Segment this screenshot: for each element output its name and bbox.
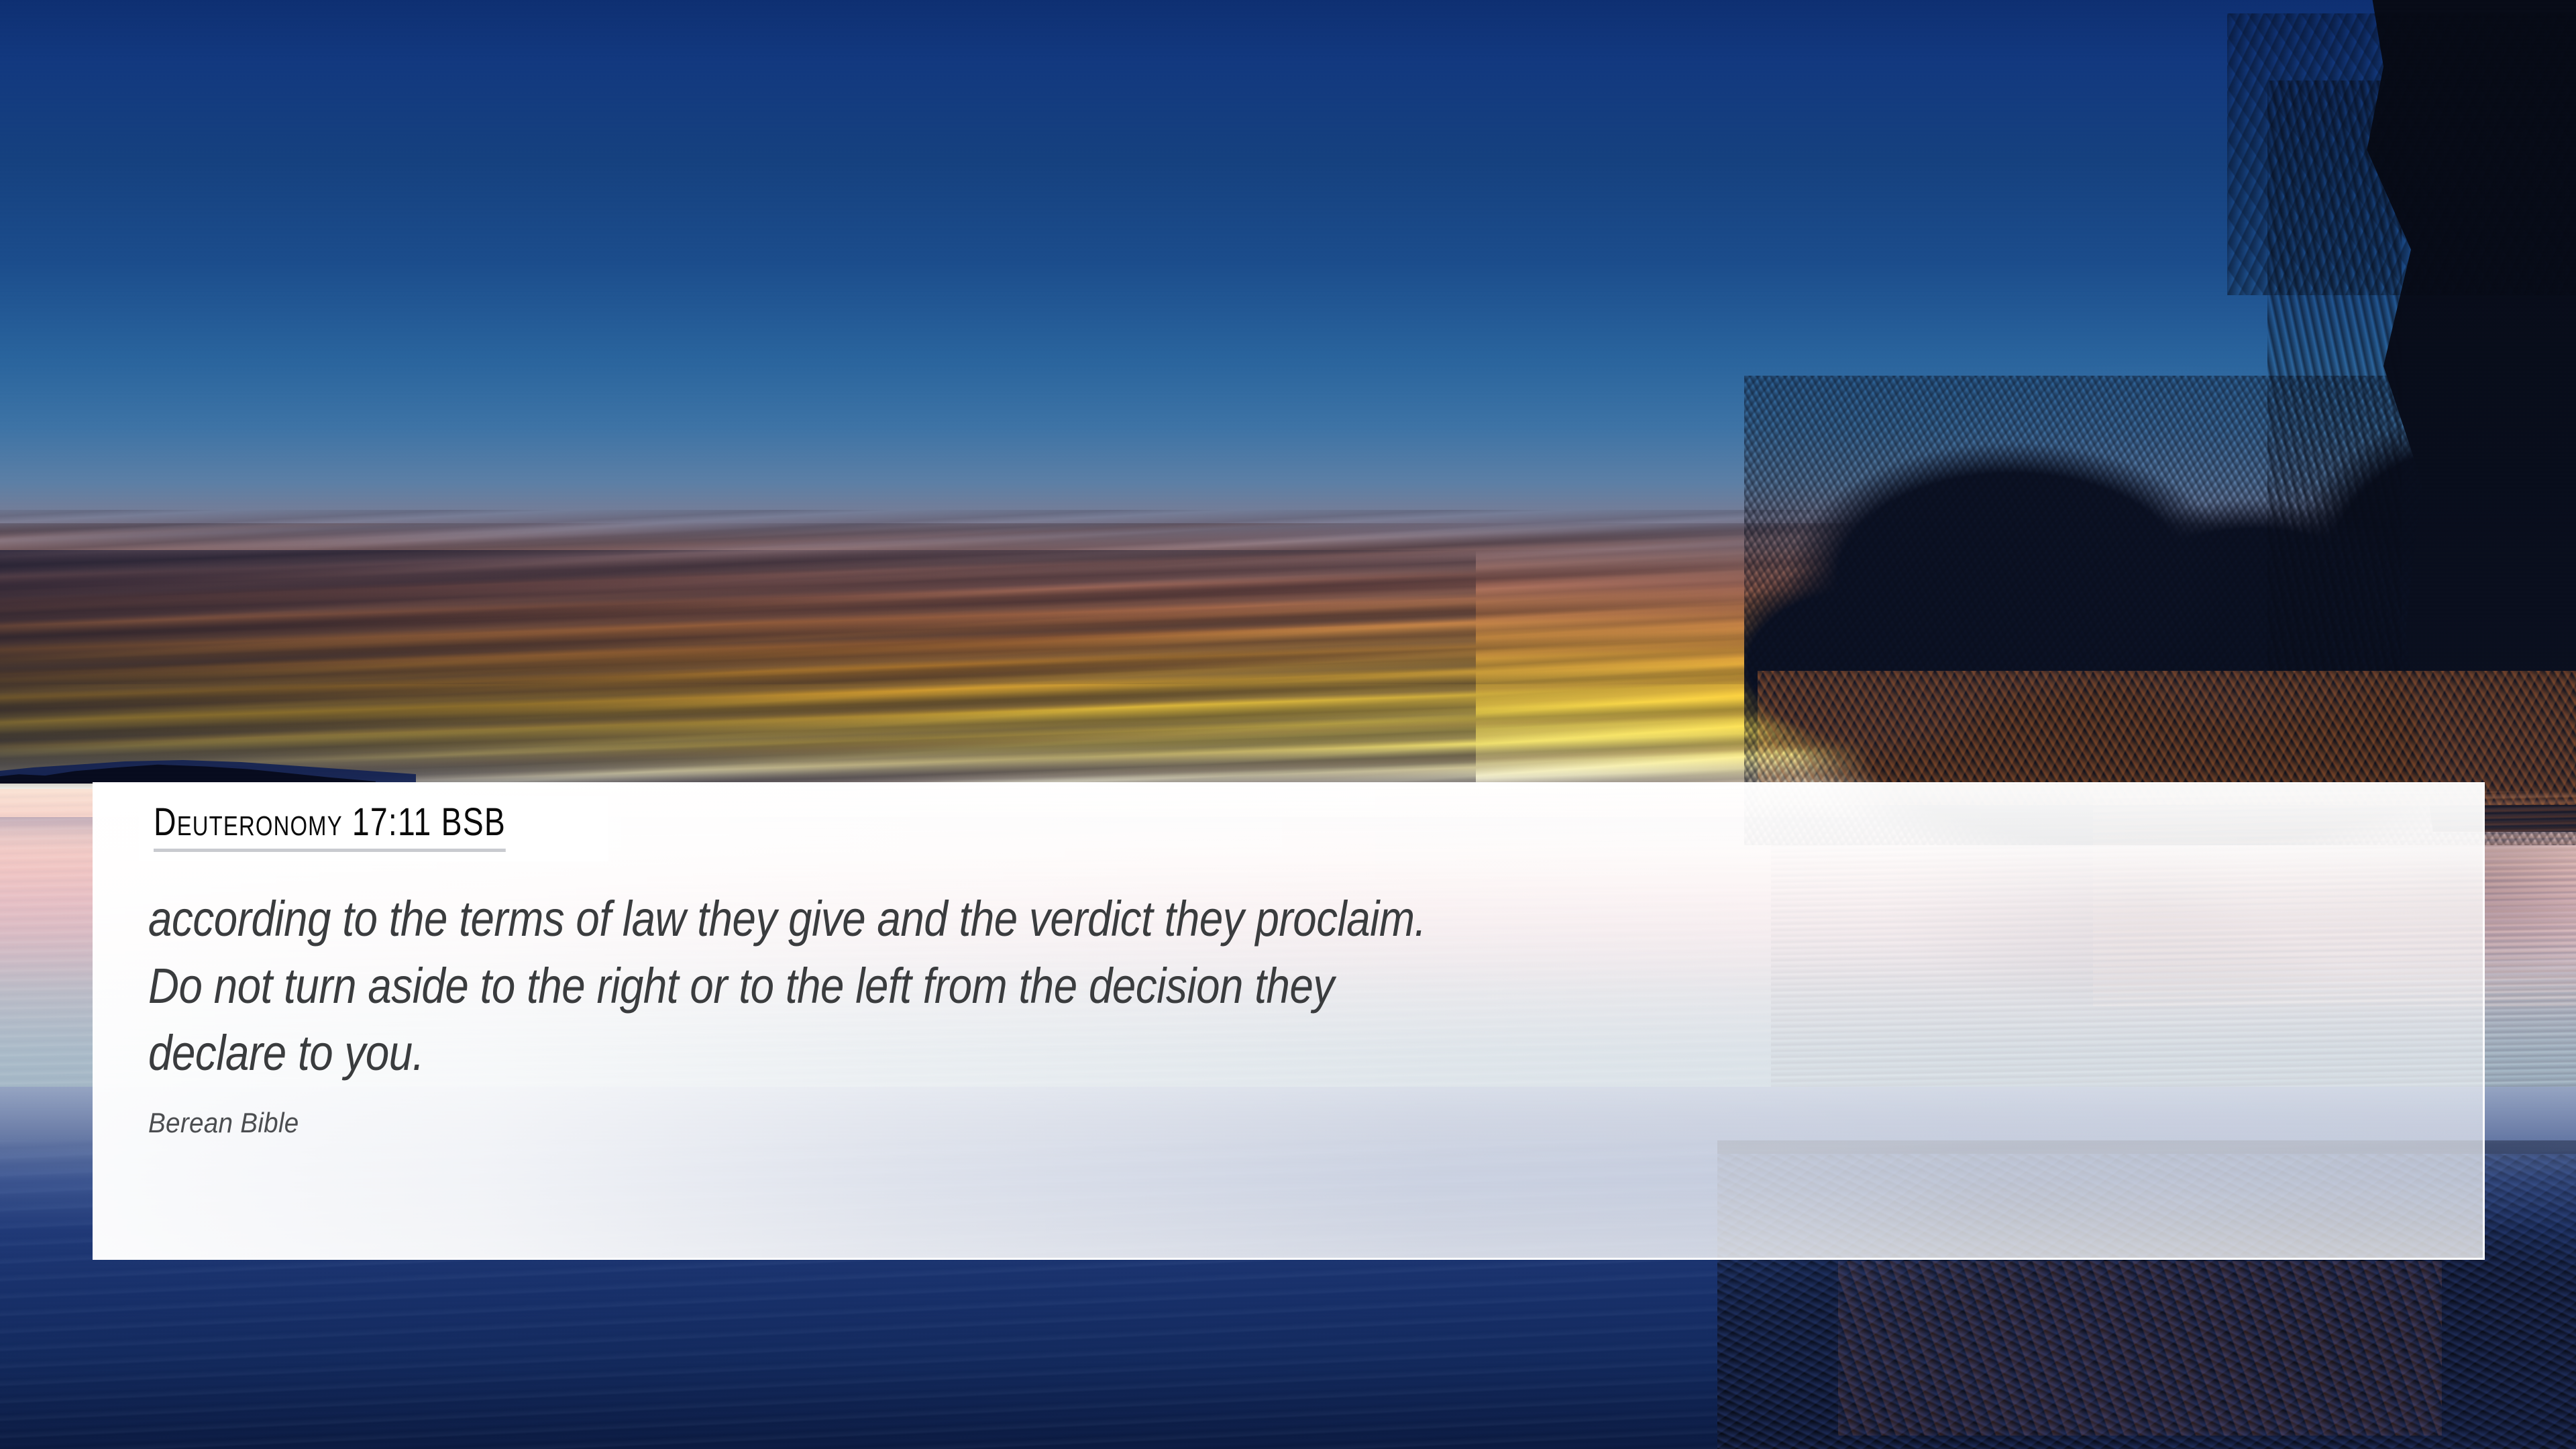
verse-card: Deuteronomy 17:11 BSB according to the t… (0, 0, 2576, 1449)
verse-text: according to the terms of law they give … (148, 885, 2416, 1087)
verse-panel: Deuteronomy 17:11 BSB according to the t… (93, 782, 2485, 1260)
shore-warm-highlights (1838, 1261, 2442, 1436)
verse-reference: Deuteronomy 17:11 BSB (154, 803, 506, 852)
verse-reference-plate: Deuteronomy 17:11 BSB (139, 796, 608, 861)
verse-line: according to the terms of law they give … (148, 885, 2098, 953)
bare-twigs (2227, 13, 2576, 295)
verse-line: Do not turn aside to the right or to the… (148, 953, 2098, 1020)
verse-source: Berean Bible (148, 1107, 299, 1139)
left-cloud-shadow (0, 550, 1744, 792)
verse-line: declare to you. (148, 1020, 2098, 1087)
